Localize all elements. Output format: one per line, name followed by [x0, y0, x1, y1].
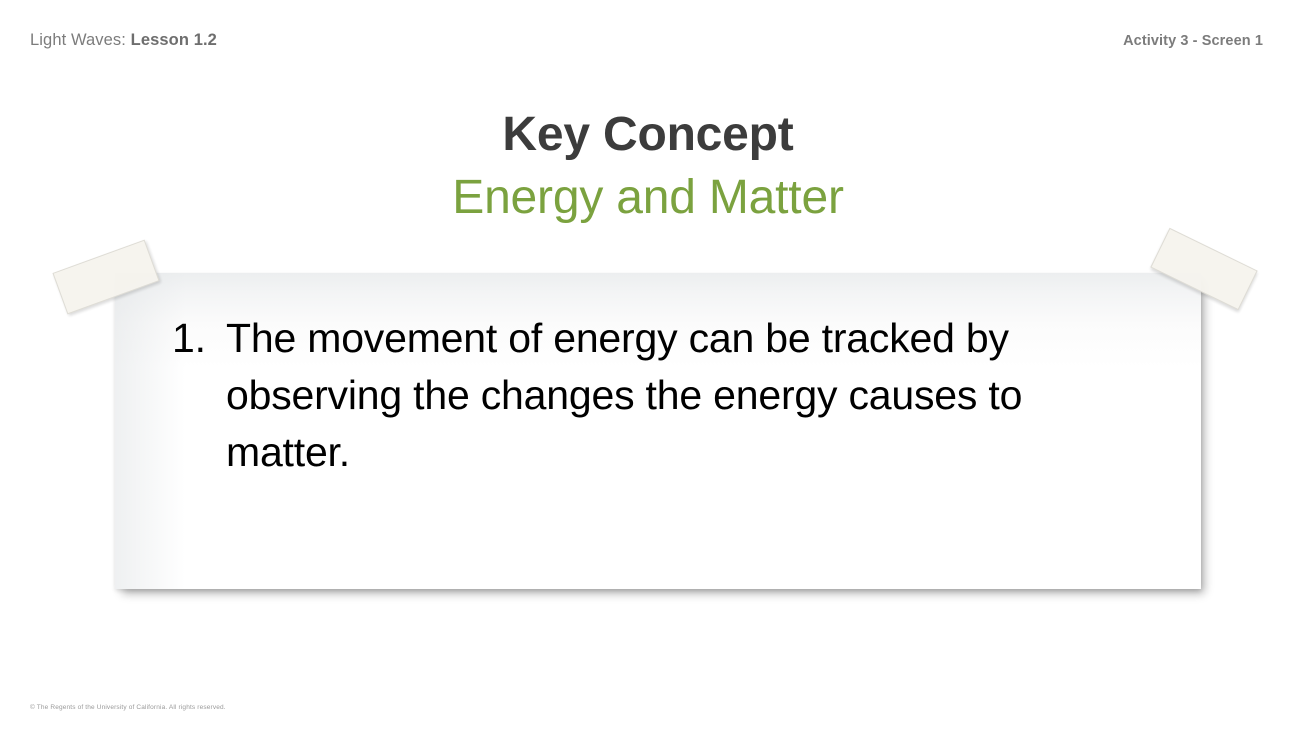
breadcrumb: Light Waves: Lesson 1.2 [30, 31, 217, 50]
breadcrumb-lesson: Lesson 1.2 [131, 31, 217, 49]
page-title: Key Concept [0, 108, 1296, 162]
list-item-text: The movement of energy can be tracked by… [226, 310, 1138, 481]
key-concept-list: 1. The movement of energy can be tracked… [172, 310, 1162, 481]
title-block: Key Concept Energy and Matter [0, 108, 1296, 231]
list-item: 1. The movement of energy can be tracked… [172, 310, 1162, 481]
page-subtitle: Energy and Matter [0, 166, 1296, 231]
activity-screen-indicator: Activity 3 - Screen 1 [1123, 33, 1263, 49]
list-item-marker: 1. [172, 310, 226, 367]
breadcrumb-course: Light Waves: [30, 31, 126, 49]
copyright-notice: © The Regents of the University of Calif… [30, 704, 226, 711]
slide-header: Light Waves: Lesson 1.2 Activity 3 - Scr… [0, 0, 1296, 70]
